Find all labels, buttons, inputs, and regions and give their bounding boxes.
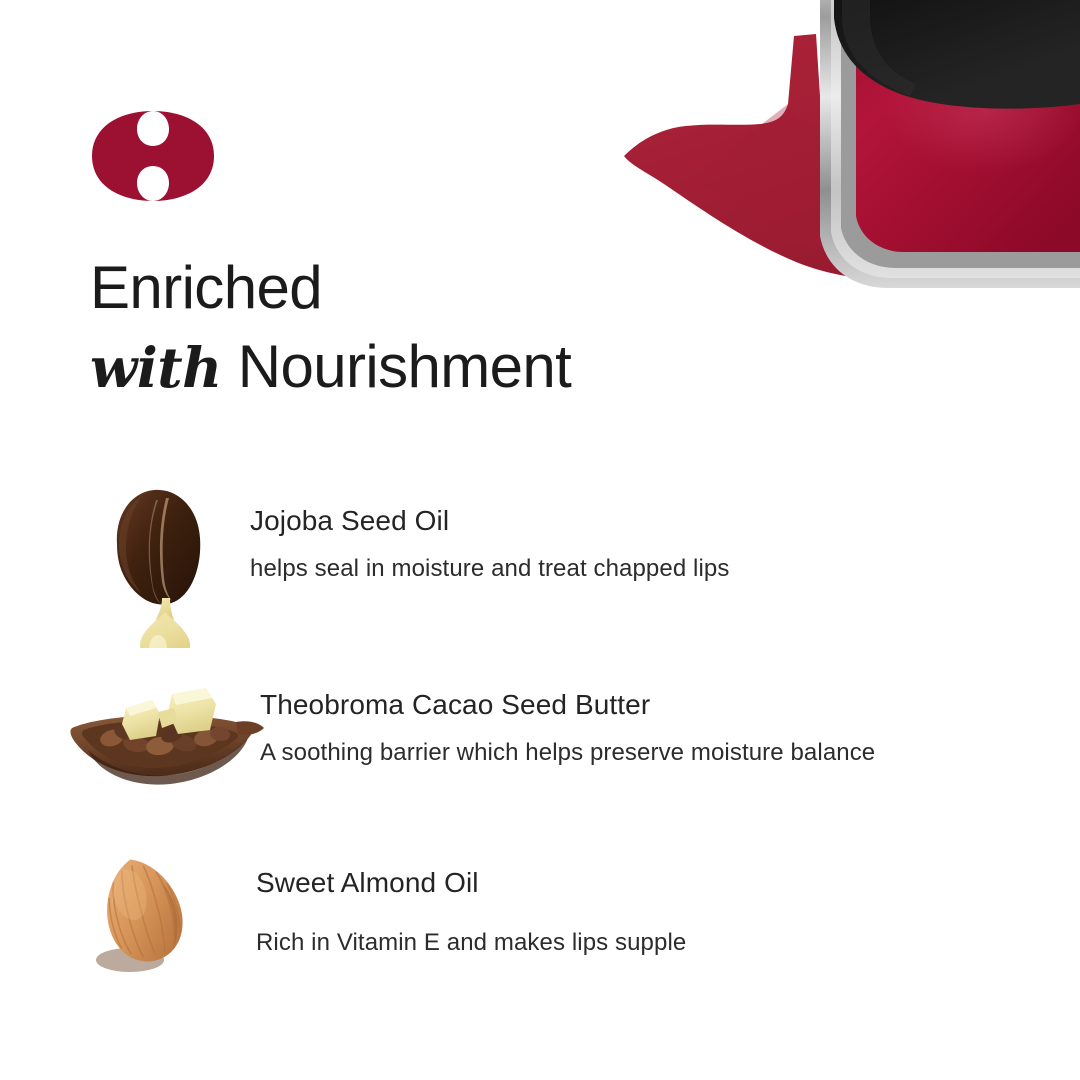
headline-line-2: with Nourishment (90, 337, 730, 397)
headline-line-2-rest: Nourishment (222, 333, 572, 400)
headline-emphasis: with (90, 335, 222, 400)
list-item: Theobroma Cacao Seed Butter A soothing b… (0, 678, 1080, 788)
ingredient-name: Jojoba Seed Oil (250, 506, 1080, 537)
almond-icon (68, 848, 268, 978)
headline-line-1: Enriched (90, 258, 730, 318)
list-item: Sweet Almond Oil Rich in Vitamin E and m… (0, 848, 1080, 978)
product-feature-panel: Enriched with Nourishment (0, 0, 1080, 1080)
list-item: Jojoba Seed Oil helps seal in moisture a… (0, 478, 1080, 648)
jojoba-seed-icon (70, 478, 270, 648)
ingredient-description: A soothing barrier which helps preserve … (260, 739, 1080, 768)
lipstick-swatch-shape (624, 34, 1080, 282)
page-title: Enriched with Nourishment (90, 258, 730, 397)
ingredient-description: Rich in Vitamin E and makes lips supple (256, 929, 1080, 958)
ingredient-description: helps seal in moisture and treat chapped… (250, 555, 1080, 584)
ingredient-text: Jojoba Seed Oil helps seal in moisture a… (250, 478, 1080, 584)
ingredient-name: Theobroma Cacao Seed Butter (260, 690, 1080, 721)
ingredient-text: Theobroma Cacao Seed Butter A soothing b… (260, 678, 1080, 768)
brand-logo-mark (92, 111, 214, 201)
ingredient-name: Sweet Almond Oil (256, 868, 1080, 899)
balm-tin (820, 0, 1080, 288)
cacao-pod-butter-icon (60, 678, 270, 788)
ingredient-text: Sweet Almond Oil Rich in Vitamin E and m… (256, 848, 1080, 958)
